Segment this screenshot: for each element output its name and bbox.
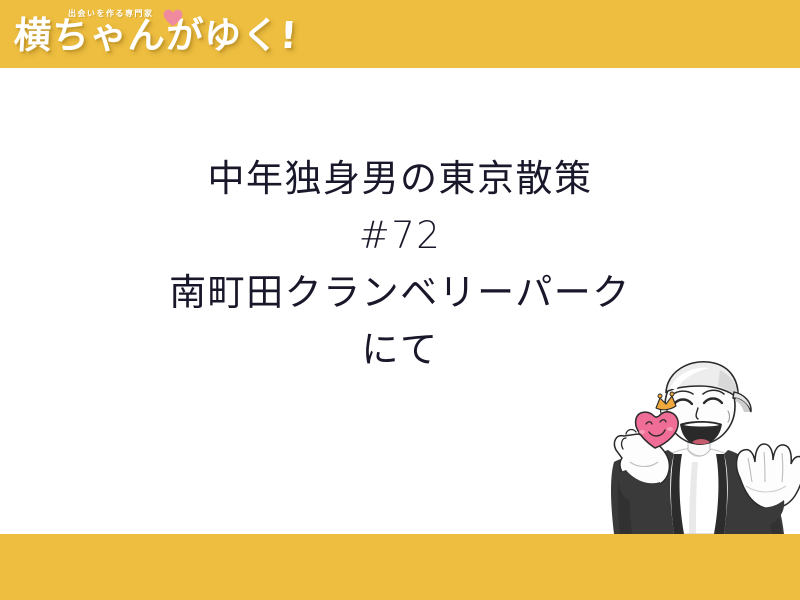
site-logo[interactable]: 横ちゃんがゆく! xyxy=(14,6,298,64)
title-line-3: 南町田クランベリーパーク xyxy=(0,264,800,321)
laughing-man-illustration xyxy=(608,358,800,540)
title-line-2: #72 xyxy=(0,207,800,264)
logo-wordmark: 横ちゃんがゆく! xyxy=(13,17,299,54)
illustration-svg xyxy=(608,358,800,540)
slide-title: 中年独身男の東京散策 #72 南町田クランベリーパーク にて xyxy=(0,150,800,378)
title-line-1: 中年独身男の東京散策 xyxy=(0,150,800,207)
bottom-brand-bar xyxy=(0,534,800,600)
top-brand-bar: 横ちゃんがゆく! 出会いを作る専門家 xyxy=(0,0,800,68)
logo-tagline: 出会いを作る専門家 xyxy=(68,8,154,19)
heart-icon xyxy=(163,9,183,27)
slide-canvas: 横ちゃんがゆく! 出会いを作る専門家 中年独身男の東京散策 #72 南町田クラン… xyxy=(0,0,800,600)
